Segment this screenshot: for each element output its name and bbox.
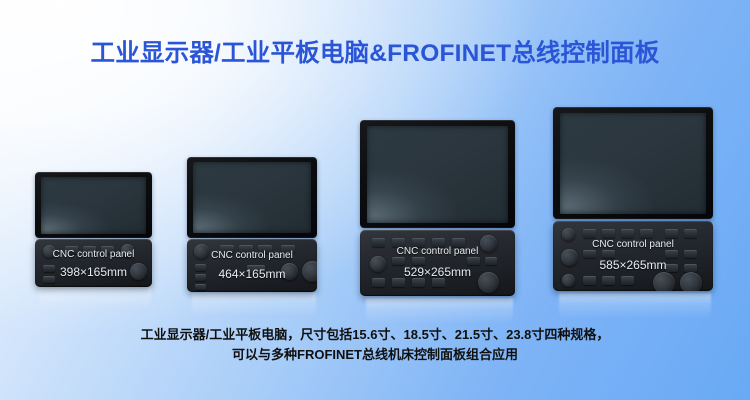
- panel-key-icon[interactable]: [220, 245, 234, 253]
- panel-key-icon[interactable]: [684, 250, 697, 258]
- product-card-4[interactable]: CNC control panel 585×265mm: [553, 107, 713, 291]
- panel-key-icon[interactable]: [485, 257, 497, 265]
- panel-key-icon[interactable]: [665, 250, 678, 258]
- panel-key-icon[interactable]: [392, 238, 405, 247]
- product-card-2[interactable]: CNC control panel 464×165mm: [187, 157, 317, 292]
- display-screen-icon: [193, 162, 311, 233]
- panel-key-icon[interactable]: [412, 278, 425, 287]
- panel-key-icon[interactable]: [684, 264, 697, 272]
- rotary-knob-icon[interactable]: [562, 228, 575, 241]
- panel-key-icon[interactable]: [412, 257, 425, 265]
- floor-reflection: [559, 293, 711, 319]
- rotary-knob-icon[interactable]: [302, 261, 317, 282]
- rotary-knob-icon[interactable]: [43, 245, 56, 258]
- panel-key-icon[interactable]: [239, 245, 253, 253]
- rotary-knob-icon[interactable]: [130, 263, 147, 280]
- industrial-monitor-4: [553, 107, 713, 219]
- page-title: 工业显示器/工业平板电脑&FROFINET总线控制面板: [0, 34, 750, 69]
- panel-key-icon[interactable]: [467, 257, 480, 265]
- caption-line-2: 可以与多种FROFINET总线机床控制面板组合应用: [0, 345, 750, 365]
- industrial-monitor-3: [360, 120, 515, 228]
- floor-reflection: [192, 293, 316, 317]
- display-screen-icon: [367, 126, 508, 223]
- rotary-knob-icon[interactable]: [653, 272, 675, 291]
- rotary-knob-icon[interactable]: [561, 249, 578, 266]
- caption-line-1: 工业显示器/工业平板电脑，尺寸包括15.6寸、18.5寸、21.5寸、23.8寸…: [0, 325, 750, 345]
- panel-key-icon[interactable]: [101, 246, 114, 254]
- rotary-knob-icon[interactable]: [121, 244, 134, 257]
- industrial-monitor-2: [187, 157, 317, 238]
- panel-key-icon[interactable]: [602, 276, 615, 285]
- panel-key-icon[interactable]: [640, 229, 653, 238]
- floor-reflection: [366, 298, 513, 324]
- panel-key-icon[interactable]: [195, 274, 206, 281]
- display-screen-icon: [41, 177, 146, 234]
- panel-key-icon[interactable]: [392, 257, 405, 265]
- panel-key-icon[interactable]: [83, 246, 96, 254]
- panel-key-icon[interactable]: [583, 229, 596, 238]
- panel-key-icon[interactable]: [432, 238, 445, 247]
- product-card-1[interactable]: CNC control panel 398×165mm: [35, 172, 152, 287]
- panel-key-icon[interactable]: [684, 229, 697, 238]
- panel-key-icon[interactable]: [665, 264, 678, 272]
- rotary-knob-icon[interactable]: [281, 263, 298, 280]
- display-screen-icon: [560, 113, 706, 214]
- cnc-control-panel-1[interactable]: CNC control panel 398×165mm: [35, 239, 152, 287]
- panel-key-icon[interactable]: [43, 276, 55, 283]
- rotary-knob-icon[interactable]: [480, 235, 497, 252]
- panel-key-icon[interactable]: [281, 245, 295, 253]
- panel-key-icon[interactable]: [372, 278, 385, 287]
- panel-key-icon[interactable]: [602, 250, 615, 258]
- product-card-3[interactable]: CNC control panel 529×265mm: [360, 120, 515, 296]
- rotary-knob-icon[interactable]: [478, 272, 499, 293]
- rotary-knob-icon[interactable]: [680, 272, 702, 291]
- panel-key-icon[interactable]: [665, 229, 678, 238]
- panel-key-icon[interactable]: [452, 238, 465, 247]
- panel-key-icon[interactable]: [65, 246, 78, 254]
- panel-key-icon[interactable]: [43, 265, 55, 272]
- panel-key-icon[interactable]: [195, 264, 206, 271]
- panel-key-icon[interactable]: [372, 238, 385, 247]
- panel-key-icon[interactable]: [621, 229, 634, 238]
- panel-key-icon[interactable]: [392, 278, 405, 287]
- cnc-control-panel-2[interactable]: CNC control panel 464×165mm: [187, 239, 317, 292]
- panel-key-icon[interactable]: [195, 284, 206, 290]
- panel-key-icon[interactable]: [432, 278, 445, 287]
- rotary-knob-icon[interactable]: [370, 256, 386, 272]
- promo-banner: 工业显示器/工业平板电脑&FROFINET总线控制面板 CNC control …: [0, 0, 750, 400]
- floor-reflection: [39, 288, 151, 310]
- panel-key-icon[interactable]: [583, 250, 596, 258]
- rotary-knob-icon[interactable]: [562, 274, 575, 287]
- cnc-control-panel-4[interactable]: CNC control panel 585×265mm: [553, 221, 713, 291]
- rotary-knob-icon[interactable]: [194, 244, 209, 259]
- cnc-control-panel-3[interactable]: CNC control panel 529×265mm: [360, 230, 515, 296]
- panel-key-icon[interactable]: [258, 245, 272, 253]
- panel-key-icon[interactable]: [602, 229, 615, 238]
- industrial-monitor-1: [35, 172, 152, 238]
- panel-key-icon[interactable]: [247, 265, 265, 273]
- panel-key-icon[interactable]: [583, 276, 596, 285]
- caption: 工业显示器/工业平板电脑，尺寸包括15.6寸、18.5寸、21.5寸、23.8寸…: [0, 325, 750, 365]
- panel-key-icon[interactable]: [412, 238, 425, 247]
- panel-key-icon[interactable]: [621, 276, 634, 285]
- panel-name-label: CNC control panel: [553, 239, 713, 250]
